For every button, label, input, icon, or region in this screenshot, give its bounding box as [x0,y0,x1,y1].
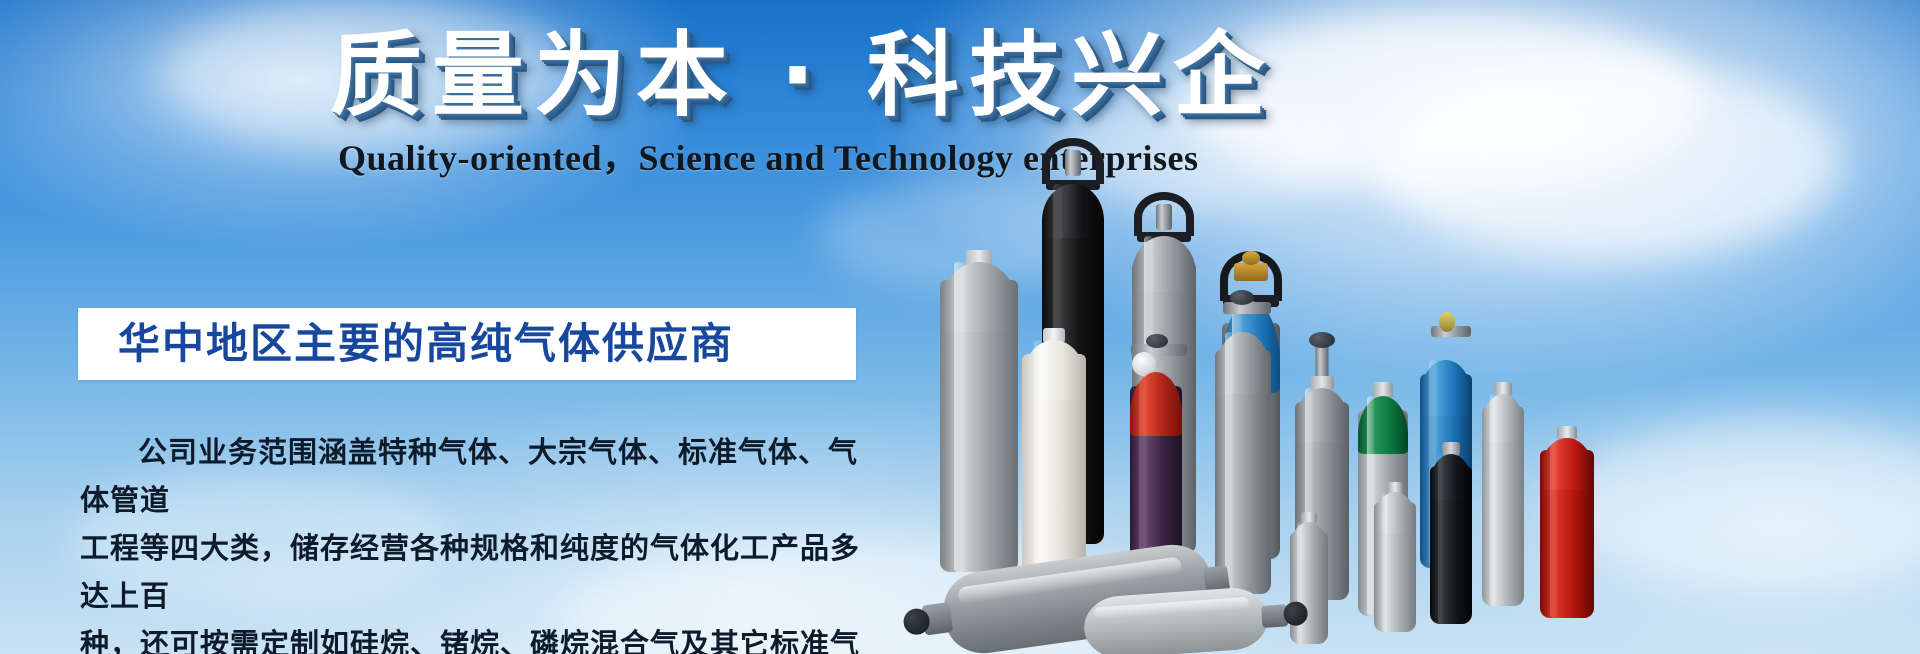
grey-valve-cylinder [1215,332,1271,594]
cylinder-shoulder [1042,184,1104,238]
slogan-text: 华中地区主要的高纯气体供应商 [78,321,734,367]
white-cream-cylinder [1022,340,1086,588]
silver-small-cylinder [1374,492,1416,632]
silver-small-cylinder [1290,522,1328,644]
cylinder-shoulder [1132,236,1196,292]
cylinder-shoulder [1358,396,1408,454]
cylinder-shoulder [940,262,1018,332]
description-line: 公司业务范围涵盖特种气体、大宗气体、标准气体、气体管道 [80,428,870,524]
valve-knob-icon [1146,334,1168,348]
banner-headline: 质量为本 · 科技兴企 [330,22,1275,130]
description-line: 工程等四大类，储存经营各种规格和纯度的气体化工产品多达上百 [80,524,870,620]
cylinder-gloss [1094,597,1249,620]
cylinder-shoulder [1130,372,1182,436]
valve-knob-icon [1309,332,1335,348]
light-grey-cylinder [940,262,1018,572]
gas-cylinder-group [930,150,1920,654]
valve-knob-icon [1230,290,1254,305]
silver-slim-cylinder [1482,394,1524,606]
valve-icon [1065,150,1081,176]
slogan-box: 华中地区主要的高纯气体供应商 [78,308,856,380]
cylinder-shoulder [1374,492,1416,534]
promo-banner: 质量为本 · 科技兴企 Quality-oriented，Science and… [0,0,1920,654]
banner-description: 公司业务范围涵盖特种气体、大宗气体、标准气体、气体管道 工程等四大类，储存经营各… [80,428,870,654]
valve-knob-icon [1242,251,1260,265]
valve-icon [1156,204,1172,230]
cylinder-shoulder [1295,388,1349,442]
cylinder-shoulder [1482,394,1524,442]
black-slim-cylinder [1430,454,1472,624]
cylinder-shoulder [1420,360,1472,416]
cylinder-shoulder [1430,454,1472,500]
description-line: 种，还可按需定制如硅烷、锗烷、磷烷混合气及其它标准气体。 [80,620,870,654]
valve-knob-icon [1439,312,1455,332]
cylinder-shoulder [1022,340,1086,400]
cylinder-shoulder [1215,332,1271,394]
red-short-cylinder [1540,438,1594,618]
cylinder-shoulder [1540,438,1594,490]
cylinder-shoulder [1290,522,1328,560]
brass-valve-icon [1234,263,1268,281]
